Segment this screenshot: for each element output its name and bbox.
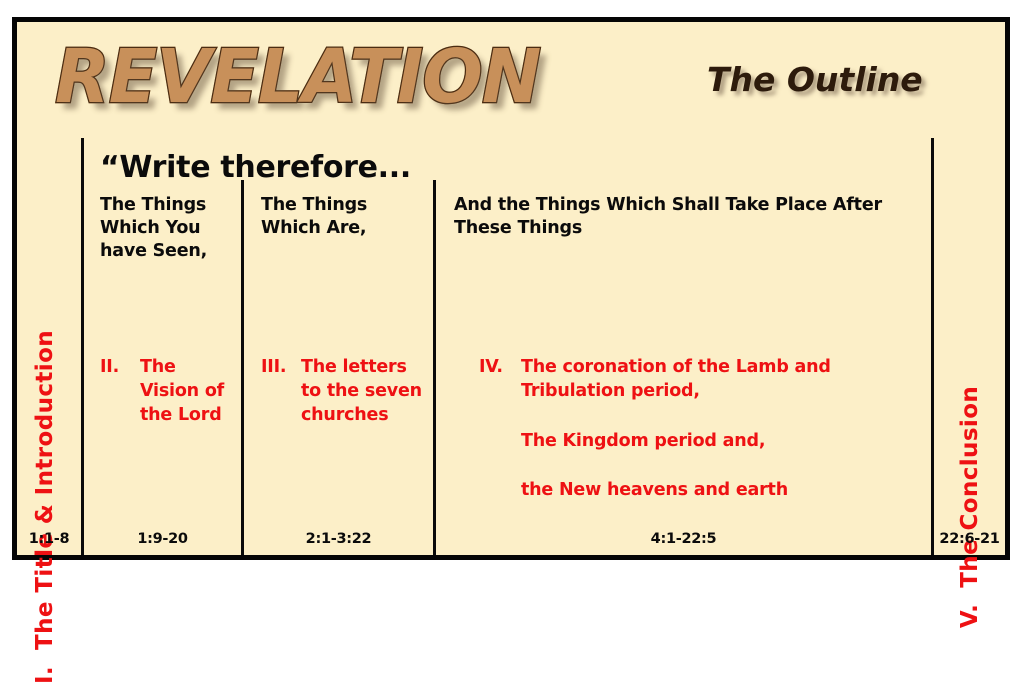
column3-heading: The Things Which Are, [261,194,431,240]
column-left-label: I.The Title & Introduction [32,330,58,684]
column4-numeral: IV. [479,356,503,380]
outline-table: “Write therefore... I.The Title & Introd… [17,128,1005,555]
column-conclusion: V.The Conclusion [934,128,1005,555]
column2-point-text: The Vision of the Lord [140,356,240,427]
column-right-numeral: V. [957,604,983,628]
slide-header: REVELATION The Outline [17,22,1005,132]
scripture-reference-1: 1:1-8 [17,531,81,547]
column4-point-line3: the New heavens and earth [521,479,934,503]
slide-frame: REVELATION The Outline “Write therefore.… [12,17,1010,560]
column-left-numeral: I. [32,666,58,684]
column3-point-text: The letters to the seven churches [301,356,431,427]
column4-point-line2: The Kingdom period and, [521,430,934,454]
column3-point: III. The letters to the seven churches [261,356,431,427]
quote-heading: “Write therefore... [100,150,411,185]
column-divider-3 [433,180,436,555]
column-divider-2 [241,180,244,555]
page-title-text: REVELATION [55,34,540,120]
column2-heading: The Things Which You have Seen, [100,194,230,263]
page-title: REVELATION [55,34,540,120]
column3-numeral: III. [261,356,286,380]
column2-point: II. The Vision of the Lord [100,356,240,427]
column-right-text: The Conclusion [957,386,983,588]
page-subtitle: The Outline [707,60,923,99]
column4-points: IV. The coronation of the Lamb and Tribu… [479,356,934,503]
scripture-reference-4: 4:1-22:5 [436,531,931,547]
column4-point-line1: The coronation of the Lamb and Tribulati… [521,356,934,404]
column-left-text: The Title & Introduction [32,330,58,650]
column-divider-1 [81,138,84,555]
column2-numeral: II. [100,356,119,380]
column4-heading: And the Things Which Shall Take Place Af… [454,194,934,240]
column-right-label: V.The Conclusion [957,386,983,628]
scripture-reference-5: 22:6-21 [934,531,1005,547]
column-title-introduction: I.The Title & Introduction [17,128,81,555]
scripture-reference-3: 2:1-3:22 [244,531,433,547]
scripture-reference-2: 1:9-20 [84,531,241,547]
